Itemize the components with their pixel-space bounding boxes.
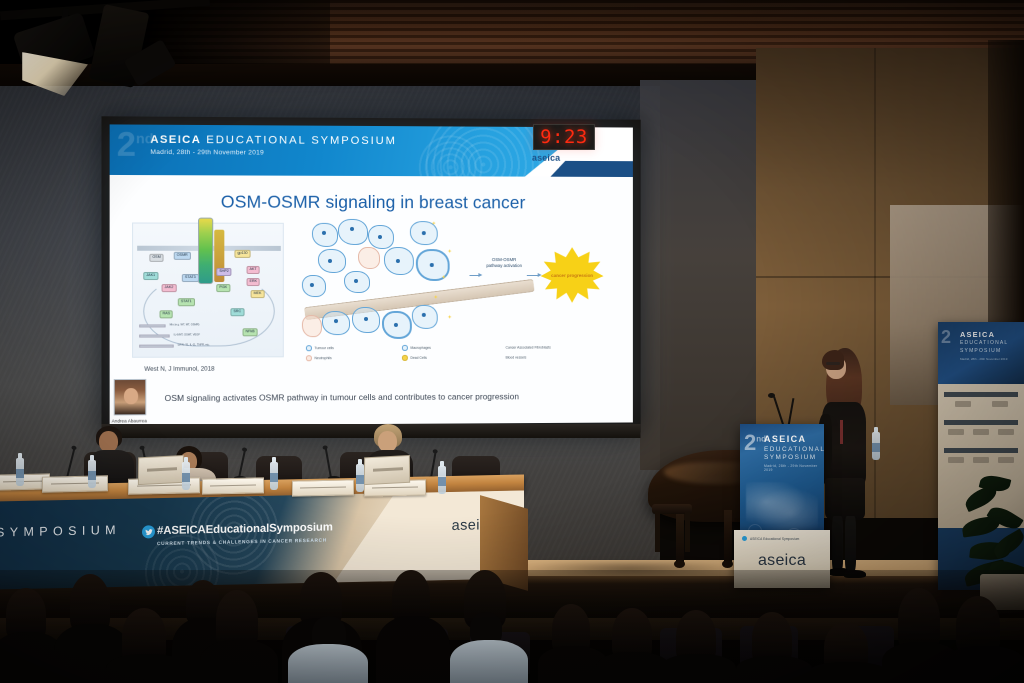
legend-label: Dead Cells <box>410 356 427 360</box>
pathway-node: JAK1 <box>143 272 158 280</box>
legend-item: Macrophages <box>402 345 487 351</box>
water-bottle <box>88 460 96 488</box>
slide-edition-number: 2nd <box>117 128 154 163</box>
countdown-timer: 9:23 <box>533 124 595 150</box>
macrophage-cell <box>358 247 380 269</box>
legend-item: Blood vessels <box>497 354 582 360</box>
legend-item: Dead Cells <box>402 355 487 361</box>
podium-dna-graphic <box>746 482 818 532</box>
sponsor-logo <box>998 429 1014 435</box>
legend-row-text: IL-6/MT, OSMT, VEGF <box>174 333 200 336</box>
cell-nucleus <box>422 231 426 235</box>
fibroblast-icon <box>497 345 503 351</box>
piano-leg <box>724 510 732 562</box>
slide-takeaway-text: OSM signaling activates OSMR pathway in … <box>165 391 519 403</box>
presentation-slide: 2nd ASEICA EDUCATIONAL SYMPOSIUM Madrid,… <box>110 124 633 425</box>
podium-line2-text: EDUCATIONAL <box>764 446 825 453</box>
macrophage-cell <box>302 315 322 337</box>
legend-label: Neutrophils <box>314 356 331 360</box>
water-bottle <box>872 432 880 460</box>
sponsor-line2-text: EDUCATIONAL <box>960 340 1008 346</box>
dead-cell-marker <box>448 315 452 319</box>
sponsor-banner-header: 2 ASEICA EDUCATIONAL SYMPOSIUM Madrid, 2… <box>938 322 1024 384</box>
pathway-node: JAK2 <box>162 284 177 292</box>
legend-row: Neutrophils Dead Cells Blood vessels <box>306 354 594 361</box>
pathway-node: OSMR <box>174 252 191 260</box>
presenter-photo <box>114 379 147 416</box>
pathway-node: OSM <box>149 254 163 262</box>
piano-bench-leg <box>655 512 660 552</box>
audience-member-hair <box>898 588 940 650</box>
slide-citation: West N, J Immunol, 2018 <box>144 366 214 373</box>
sponsor-logo-row <box>938 401 1024 412</box>
water-bottle <box>356 464 364 492</box>
conference-hall-photo: 2nd ASEICA EDUCATIONAL SYMPOSIUM Madrid,… <box>0 0 1024 683</box>
piano-caster <box>722 560 733 568</box>
pathway-node: AKT <box>247 266 260 274</box>
slide-header-titles: ASEICA EDUCATIONAL SYMPOSIUM Madrid, 28t… <box>150 134 396 157</box>
slide-body: OSM OSMR gp130 JAK1 JAK2 STAT3 STAT1 SHP… <box>110 218 633 396</box>
pathway-node: NFkB <box>243 328 258 336</box>
neutrophil-icon <box>306 355 312 361</box>
countdown-timer-value: 9:23 <box>540 126 588 148</box>
wall-panel-grey-blue <box>640 80 758 470</box>
sponsor-brand-text: ASEICA <box>960 330 995 339</box>
cell-nucleus <box>394 323 398 327</box>
panelist-nameplate <box>202 477 264 494</box>
speaker-leg <box>832 516 843 572</box>
audience-area <box>0 570 1024 683</box>
podium-edition-number: 2nd <box>744 432 766 454</box>
podium-text-block: ASEICA EDUCATIONAL SYMPOSIUM Madrid, 28t… <box>764 434 825 472</box>
panelist-nameplate <box>292 479 354 496</box>
podium-aseica-logo: aseica <box>734 552 830 570</box>
legend-bar <box>139 345 174 348</box>
tumour-cell-icon <box>306 345 312 351</box>
cell-nucleus <box>430 263 434 267</box>
audience-member-shoulders <box>660 654 736 683</box>
sponsor-logo-row <box>938 429 1024 440</box>
presenter-face <box>124 388 138 404</box>
sponsor-divider <box>944 392 1018 397</box>
cell-nucleus <box>364 317 368 321</box>
piano-leg <box>676 508 684 562</box>
panel-laptop <box>364 455 410 485</box>
dead-cell-marker <box>448 249 452 253</box>
sponsor-divider <box>944 448 1018 453</box>
tissue-diagram-legend: Tumour cells Macrophages Cancer Associat… <box>306 344 594 365</box>
cell-nucleus <box>378 235 382 239</box>
sponsor-logo <box>998 457 1014 463</box>
receptor-complex <box>198 218 213 284</box>
audience-member-shoulders <box>200 640 278 683</box>
podium-edition-number-text: 2 <box>744 430 756 455</box>
head-table: SYMPOSIUM #ASEICAEducationalSymposium CU… <box>0 480 530 580</box>
panelist-head <box>378 431 397 452</box>
slide-corner-logo: aseica <box>532 153 560 163</box>
slide-event-text: EDUCATIONAL SYMPOSIUM <box>206 134 397 147</box>
flow-arrow <box>469 275 479 276</box>
speaker-skirt <box>825 478 865 520</box>
pathway-node: MEK <box>251 290 265 298</box>
slide-brand-text: ASEICA <box>150 134 201 146</box>
legend-label: Cancer Associated Fibroblasts <box>506 345 551 349</box>
speaker-glasses <box>826 362 840 365</box>
sponsor-edition-number: 2 <box>941 328 951 346</box>
podium-brand-text: ASEICA <box>764 434 825 444</box>
speaker-fringe <box>822 350 844 370</box>
cell-nucleus <box>396 259 400 263</box>
legend-row: Tumour cells Macrophages Cancer Associat… <box>306 344 594 351</box>
pathway-node: RAS <box>160 310 174 318</box>
sponsor-logo <box>948 429 964 435</box>
signaling-pathway-diagram: OSM OSMR gp130 JAK1 JAK2 STAT3 STAT1 SHP… <box>132 222 284 357</box>
sponsor-line3-text: SYMPOSIUM <box>960 348 1001 354</box>
panel-laptop <box>138 455 184 485</box>
legend-bar <box>139 334 169 337</box>
cell-nucleus <box>350 227 354 231</box>
pathway-node: STAT1 <box>178 298 195 306</box>
slide-date-text: Madrid, 28th - 29th November 2019 <box>150 149 396 157</box>
sponsor-logo <box>955 401 971 407</box>
banner-hashtag-text: #ASEICAEducationalSymposium <box>157 521 333 537</box>
podium-strip: ASEICA Educational Symposium <box>742 536 799 541</box>
tumour-cell <box>302 275 326 297</box>
slide-header-main: ASEICA EDUCATIONAL SYMPOSIUM <box>150 134 396 147</box>
legend-row-text: LIF/IL-31, IL-11, TNFR, etc. <box>178 343 210 346</box>
pathway-node: SRC <box>230 308 244 316</box>
flow-arrow <box>527 275 539 276</box>
cell-nucleus <box>334 319 338 323</box>
podium-date-text: Madrid, 28th - 29th November 2019 <box>764 464 825 472</box>
tumour-cell <box>412 305 438 329</box>
pathway-activation-label: OSM-OSMR pathway activation <box>483 257 524 269</box>
slide-title: OSM-OSMR signaling in breast cancer <box>110 191 633 214</box>
podium-strip-text: ASEICA Educational Symposium <box>750 537 799 541</box>
cell-nucleus <box>422 313 426 317</box>
audience-member-shoulders <box>288 644 368 683</box>
legend-row-text: Mix (e.g. WT, MT, OSMR) <box>170 323 200 326</box>
edition-number-text: 2 <box>117 125 136 163</box>
audience-member-shoulders <box>942 646 1024 683</box>
sponsor-logo <box>948 457 964 463</box>
pathway-node: PI3K <box>216 284 230 292</box>
pathway-node: gp130 <box>234 250 250 258</box>
piano-bench-leg <box>685 512 690 552</box>
podium-line3-text: SYMPOSIUM <box>764 454 825 461</box>
sponsor-logo-rows <box>938 384 1024 468</box>
audience-member-shoulders <box>736 656 812 683</box>
sponsor-date-text: Madrid, 28th - 29th November 2019 <box>960 357 1007 361</box>
legend-label: Blood vessels <box>506 356 527 360</box>
water-bottle <box>270 462 278 490</box>
speaker-lanyard <box>840 420 843 444</box>
sponsor-logo-row <box>938 457 1024 468</box>
pathway-node: ERK <box>247 278 260 286</box>
sponsor-logo <box>973 457 989 463</box>
burst-label: cancer progression <box>551 273 593 278</box>
tumour-tissue-diagram: OSM-OSMR pathway activation cancer progr… <box>298 219 596 369</box>
cell-nucleus <box>328 259 332 263</box>
dead-cell-icon <box>402 355 408 361</box>
legend-label: Macrophages <box>410 346 430 350</box>
legend-item: Cancer Associated Fibroblasts <box>497 344 582 350</box>
sponsor-logo <box>973 429 989 435</box>
panelist-nameplate <box>42 475 108 492</box>
slide-footer: Andrea Abaurrea OSM signaling activates … <box>110 379 633 416</box>
legend-item: Tumour cells <box>306 345 392 351</box>
cell-nucleus <box>310 283 314 287</box>
banner-symposium-text: SYMPOSIUM <box>0 523 121 540</box>
projection-screen[interactable]: 2nd ASEICA EDUCATIONAL SYMPOSIUM Madrid,… <box>110 124 633 425</box>
pathway-node: STAT3 <box>182 274 199 282</box>
speaker-leg <box>845 516 856 572</box>
blood-vessel-icon <box>497 355 503 361</box>
water-bottle <box>438 466 446 494</box>
twitter-bird-icon <box>142 525 155 538</box>
sponsor-divider <box>944 420 1018 425</box>
podium-dot-icon <box>742 536 747 541</box>
legend-bar <box>139 324 165 327</box>
tumour-cell <box>322 311 350 335</box>
legend-label: Tumour cells <box>314 346 333 350</box>
audience-member-shoulders <box>450 640 528 683</box>
audience-member-shoulders <box>808 662 888 683</box>
tumour-cell <box>338 219 368 245</box>
panelist-head <box>99 431 118 452</box>
cancer-progression-burst: cancer progression <box>541 247 604 303</box>
pathway-node: SHP2 <box>216 268 232 276</box>
sponsor-logo <box>992 401 1008 407</box>
water-bottle <box>16 458 24 486</box>
cell-nucleus <box>322 231 326 235</box>
audience-member-hair <box>392 570 430 622</box>
legend-item: Neutrophils <box>306 355 392 361</box>
water-bottle <box>182 462 190 490</box>
presenter-name-label: Andrea Abaurrea <box>112 418 147 423</box>
piano-caster <box>674 560 685 568</box>
cell-nucleus <box>354 279 358 283</box>
audience-member-shoulders <box>376 616 450 683</box>
macrophage-icon <box>402 345 408 351</box>
audience-member-shoulders <box>596 652 670 683</box>
tumour-cell <box>312 223 338 247</box>
